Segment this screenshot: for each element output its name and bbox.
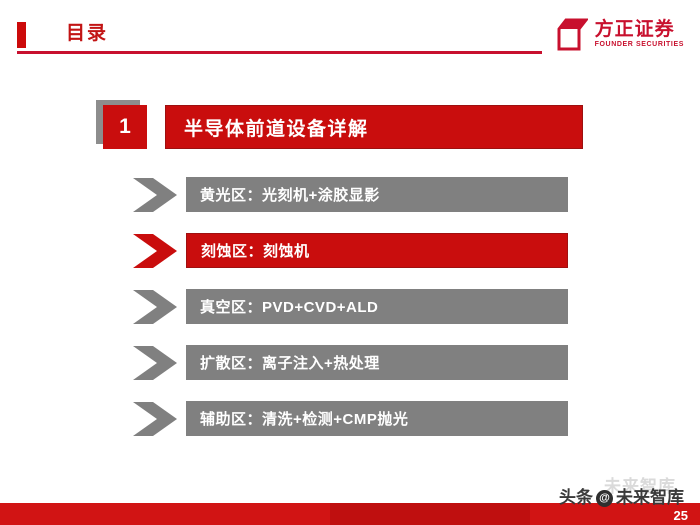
list-item[interactable]: 扩散区：离子注入+热处理 <box>0 340 700 396</box>
chevron-right-icon <box>131 233 179 269</box>
list-item-label: 黄光区：光刻机+涂胶显影 <box>186 184 380 205</box>
list-item-bar[interactable]: 扩散区：离子注入+热处理 <box>186 345 568 380</box>
watermark: 头条 @ 未来智库 <box>559 489 684 507</box>
slide-header: 目录 方正证券 FOUNDER SECURITIES <box>0 0 700 58</box>
list-item-bar[interactable]: 刻蚀区：刻蚀机 <box>186 233 568 268</box>
list-item[interactable]: 刻蚀区：刻蚀机 <box>0 228 700 284</box>
list-item-label: 辅助区：清洗+检测+CMP抛光 <box>186 408 408 429</box>
list-item[interactable]: 真空区：PVD+CVD+ALD <box>0 284 700 340</box>
list-item-bar[interactable]: 黄光区：光刻机+涂胶显影 <box>186 177 568 212</box>
brand-name-en: FOUNDER SECURITIES <box>595 40 684 50</box>
list-item-bar[interactable]: 辅助区：清洗+检测+CMP抛光 <box>186 401 568 436</box>
list-item-label: 刻蚀区：刻蚀机 <box>187 240 310 261</box>
section-number-badge: 1 <box>103 105 147 149</box>
list-item[interactable]: 黄光区：光刻机+涂胶显影 <box>0 172 700 228</box>
watermark-account: 未来智库 <box>616 489 684 507</box>
brand-logo-text: 方正证券 FOUNDER SECURITIES <box>595 19 684 50</box>
list-item-label: 扩散区：离子注入+热处理 <box>186 352 380 373</box>
brand-name-cn: 方正证券 <box>595 19 684 40</box>
list-item-bar[interactable]: 真空区：PVD+CVD+ALD <box>186 289 568 324</box>
agenda-list: 黄光区：光刻机+涂胶显影 刻蚀区：刻蚀机 真空区：PVD+CVD+ALD <box>0 172 700 452</box>
founder-diamond-icon <box>557 18 588 51</box>
header-marker-icon <box>17 22 26 48</box>
header-divider <box>17 51 542 54</box>
chevron-right-icon <box>131 345 179 381</box>
chevron-right-icon <box>131 289 179 325</box>
section-title-row: 1 半导体前道设备详解 <box>96 100 586 150</box>
watermark-at-icon: @ <box>596 490 613 507</box>
list-item[interactable]: 辅助区：清洗+检测+CMP抛光 <box>0 396 700 452</box>
chevron-right-icon <box>131 177 179 213</box>
page-title: 目录 <box>66 21 108 47</box>
page-number: 25 <box>674 508 688 523</box>
chevron-right-icon <box>131 401 179 437</box>
section-title-label: 半导体前道设备详解 <box>166 114 369 141</box>
brand-logo: 方正证券 FOUNDER SECURITIES <box>557 18 684 51</box>
section-title-bar[interactable]: 半导体前道设备详解 <box>165 105 583 149</box>
list-item-label: 真空区：PVD+CVD+ALD <box>186 296 378 317</box>
watermark-platform: 头条 <box>559 489 593 507</box>
